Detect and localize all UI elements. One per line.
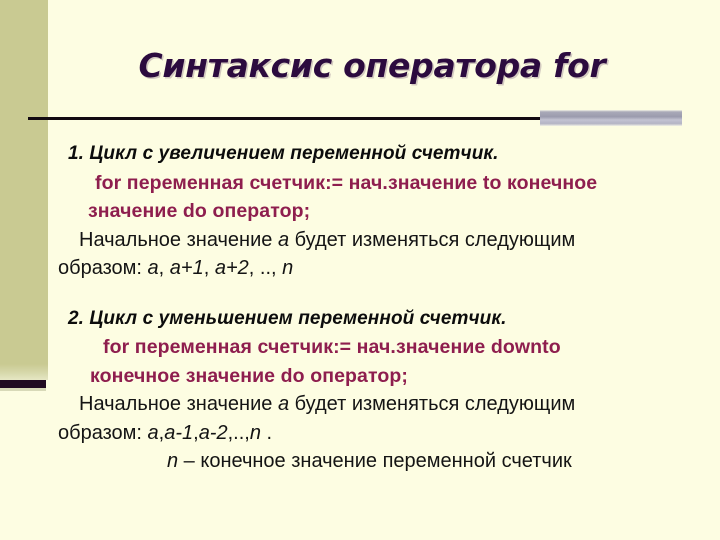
section-2-code-line-1: for переменная счетчик:= нач.значение do… [0,333,720,362]
title-divider-rule [28,117,542,120]
section-1-code-line-2: значение do оператор; [0,197,720,226]
slide-title: Синтаксис оператора for [48,46,696,86]
section-2-note: n – конечное значение переменной счетчик [0,447,720,476]
title-divider-gradient-cap [540,110,682,126]
slide-body: 1. Цикл с увеличением переменной счетчик… [0,140,720,476]
section-2-heading: 2. Цикл с уменьшением переменной счетчик… [0,305,720,334]
section-spacer [0,283,720,305]
section-1-code-line-1: for переменная счетчик:= нач.значение to… [0,169,720,198]
section-2-body-line-2: образом: a,a-1,a-2,..,n . [0,419,720,448]
section-1-heading: 1. Цикл с увеличением переменной счетчик… [0,140,720,169]
section-2-body-line-1: Начальное значение a будет изменяться сл… [0,390,720,419]
section-1-body-line-2: образом: a, a+1, a+2, .., n [0,254,720,283]
section-1-body-line-1: Начальное значение a будет изменяться сл… [0,226,720,255]
section-2-code-line-2: конечное значение do оператор; [0,362,720,391]
slide: Синтаксис оператора for 1. Цикл с увелич… [0,0,720,540]
